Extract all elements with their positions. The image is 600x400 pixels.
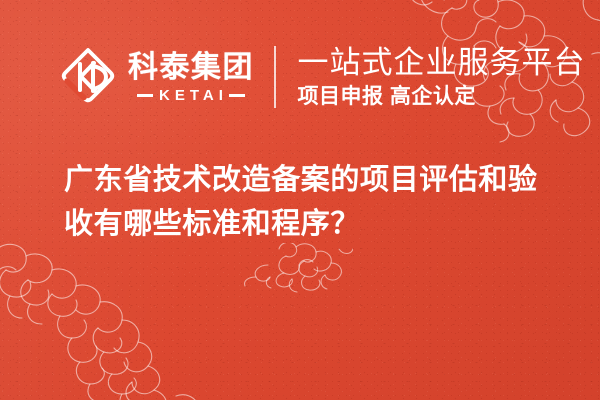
tagline-main: 一站式企业服务平台 (298, 45, 586, 81)
brand-wordmark: 科泰集团 KETAI (128, 51, 254, 104)
tagline-block: 一站式企业服务平台 项目申报 高企认定 (298, 45, 586, 110)
brand-name-en: KETAI (159, 87, 228, 104)
promo-banner: 科泰集团 KETAI 一站式企业服务平台 项目申报 高企认定 广东省技术改造备案… (0, 0, 600, 400)
brand-name-cn: 科泰集团 (128, 51, 254, 84)
brand-logo[interactable]: 科泰集团 KETAI (58, 46, 254, 108)
tagline-sub: 项目申报 高企认定 (298, 84, 586, 110)
dash-right-icon (229, 94, 245, 97)
banner-header: 科泰集团 KETAI 一站式企业服务平台 项目申报 高企认定 (0, 34, 600, 120)
header-divider (274, 46, 276, 108)
dash-left-icon (137, 94, 153, 97)
brand-name-en-row: KETAI (128, 87, 254, 104)
headline-title: 广东省技术改造备案的项目评估和验收有哪些标准和程序？ (64, 158, 556, 246)
ketai-diamond-logo-icon (58, 46, 118, 108)
